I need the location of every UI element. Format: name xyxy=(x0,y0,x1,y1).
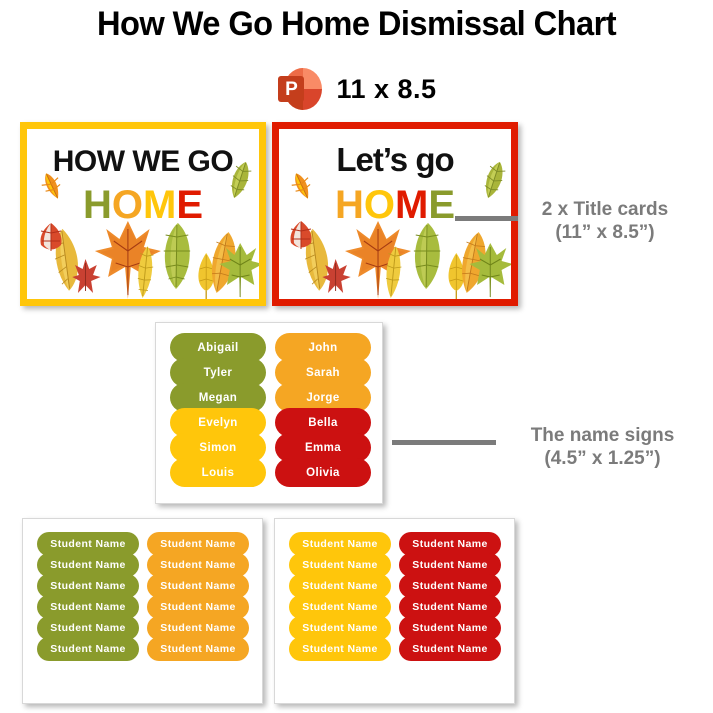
name-signs-columns: AbigailTylerMeganEvelynSimonLouisJohnSar… xyxy=(170,333,371,483)
page-title: How We Go Home Dismissal Chart xyxy=(14,5,698,44)
blank-column-0: Student NameStudent NameStudent NameStud… xyxy=(289,532,391,658)
blank-panel-columns: Student NameStudent NameStudent NameStud… xyxy=(289,532,501,658)
annotation-name-signs: The name signs (4.5” x 1.25”) xyxy=(500,424,705,470)
home-letter-o-1: O xyxy=(112,183,143,227)
blank-column-1: Student NameStudent NameStudent NameStud… xyxy=(147,532,249,658)
annotation-name-signs-line1: The name signs xyxy=(500,424,705,447)
blank-column-0: Student NameStudent NameStudent NameStud… xyxy=(37,532,139,658)
home-letter-e-3: E xyxy=(428,183,455,227)
blank-column-1: Student NameStudent NameStudent NameStud… xyxy=(399,532,501,658)
slide-size-label: 11 x 8.5 xyxy=(336,74,436,105)
name-signs-sample-panel[interactable]: AbigailTylerMeganEvelynSimonLouisJohnSar… xyxy=(155,322,383,504)
annotation-title-cards-line2: (11” x 8.5”) xyxy=(505,221,705,244)
student-name-pill[interactable]: Student Name xyxy=(37,637,139,661)
powerpoint-icon: P xyxy=(276,66,322,112)
home-letter-m-2: M xyxy=(143,183,176,227)
name-sign-pill[interactable]: Louis xyxy=(170,458,266,487)
title-card-2-line2: HOME xyxy=(279,183,511,228)
home-letter-o-1: O xyxy=(364,183,395,227)
annotation-name-signs-line2: (4.5” x 1.25”) xyxy=(500,447,705,470)
title-card-how-we-go-home[interactable]: HOW WE GO HOME xyxy=(20,122,266,306)
blank-panel-green-orange[interactable]: Student NameStudent NameStudent NameStud… xyxy=(22,518,263,704)
blank-panel-columns: Student NameStudent NameStudent NameStud… xyxy=(37,532,249,658)
title-card-lets-go-home[interactable]: Let’s go HOME xyxy=(272,122,518,306)
home-letter-e-3: E xyxy=(176,183,203,227)
title-card-1-line1: HOW WE GO xyxy=(27,145,259,179)
home-letter-h-0: H xyxy=(335,183,364,227)
annotation-title-cards: 2 x Title cards (11” x 8.5”) xyxy=(505,198,705,244)
name-sign-pill[interactable]: Olivia xyxy=(275,458,371,487)
blank-panel-gold-red[interactable]: Student NameStudent NameStudent NameStud… xyxy=(274,518,515,704)
annotation-title-cards-line1: 2 x Title cards xyxy=(505,198,705,221)
student-name-pill[interactable]: Student Name xyxy=(289,637,391,661)
home-letter-m-2: M xyxy=(395,183,428,227)
home-letter-h-0: H xyxy=(83,183,112,227)
student-name-pill[interactable]: Student Name xyxy=(399,637,501,661)
format-row: P 11 x 8.5 xyxy=(0,66,713,112)
title-card-2-line1: Let’s go xyxy=(279,141,511,179)
right-column: JohnSarahJorgeBellaEmmaOlivia xyxy=(275,333,371,483)
powerpoint-letter: P xyxy=(278,76,304,102)
title-card-2-inner: Let’s go HOME xyxy=(279,129,511,299)
title-card-1-inner: HOW WE GO HOME xyxy=(27,129,259,299)
title-card-1-line2: HOME xyxy=(27,183,259,228)
left-column: AbigailTylerMeganEvelynSimonLouis xyxy=(170,333,266,483)
student-name-pill[interactable]: Student Name xyxy=(147,637,249,661)
leader-line-name-signs xyxy=(392,440,496,445)
